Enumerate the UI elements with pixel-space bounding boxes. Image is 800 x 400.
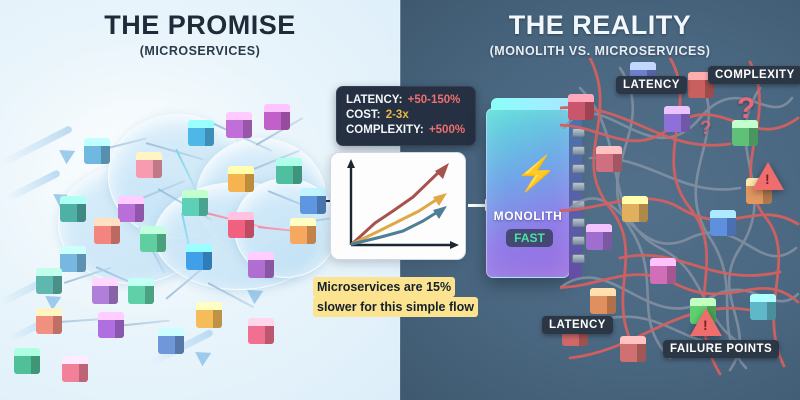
left-panel-subtitle: (MICROSERVICES): [0, 43, 400, 59]
service-cube: [264, 104, 290, 130]
question-mark-icon: ?: [737, 92, 755, 126]
service-cube: [98, 312, 124, 338]
stat-row-latency: LATENCY: +50-150%: [346, 93, 467, 108]
chart-series: [352, 163, 449, 244]
service-cube: [568, 94, 594, 120]
lightning-bolt-icon: ⚡: [515, 157, 557, 191]
left-panel-title: THE PROMISE: [0, 10, 400, 40]
service-cube: [158, 328, 184, 354]
question-mark-icon: ?: [700, 118, 712, 140]
service-cube: [276, 158, 302, 184]
infographic-canvas: THE PROMISE (MICROSERVICES): [0, 0, 800, 400]
service-cube: [140, 226, 166, 252]
service-cube: [710, 210, 736, 236]
monolith-label: MONOLITH: [487, 209, 569, 223]
service-cube: [188, 120, 214, 146]
monolith-fast-badge: FAST: [506, 229, 553, 247]
service-cube: [84, 138, 110, 164]
trend-chart-svg: [331, 153, 467, 261]
service-cube: [226, 112, 252, 138]
service-cube: [620, 336, 646, 362]
stat-value-complexity: +500%: [429, 124, 465, 136]
service-cube: [182, 190, 208, 216]
stat-value-latency: +50-150%: [408, 94, 461, 106]
service-cube: [300, 188, 326, 214]
service-cube: [650, 258, 676, 284]
label-latency-bottom: LATENCY: [542, 316, 613, 334]
monolith-block: ⚡ MONOLITH FAST: [486, 108, 570, 278]
service-cube: [622, 196, 648, 222]
stat-row-cost: COST: 2-3x: [346, 108, 467, 123]
stat-label-latency: LATENCY:: [346, 94, 402, 106]
service-cube: [128, 278, 154, 304]
service-cube: [586, 224, 612, 250]
label-latency-top: LATENCY: [616, 76, 687, 94]
service-cube: [118, 196, 144, 222]
trend-chart-card: [330, 152, 466, 260]
service-cube: [750, 294, 776, 320]
left-panel-title-group: THE PROMISE (MICROSERVICES): [0, 10, 400, 59]
stat-label-complexity: COMPLEXITY:: [346, 124, 424, 136]
service-cube: [62, 356, 88, 382]
chart-to-monolith-arrow: [468, 204, 486, 207]
service-cube: [290, 218, 316, 244]
service-cube: [60, 246, 86, 272]
right-panel-title: THE REALITY: [400, 10, 800, 40]
stat-label-cost: COST:: [346, 109, 381, 121]
service-cube: [36, 308, 62, 334]
service-cube: [248, 318, 274, 344]
service-cube: [228, 166, 254, 192]
service-cube: [36, 268, 62, 294]
stat-value-cost: 2-3x: [386, 109, 409, 121]
service-cube: [60, 196, 86, 222]
right-panel-subtitle: (MONOLITH VS. MICROSERVICES): [400, 43, 800, 59]
service-cube: [248, 252, 274, 278]
service-cube: [590, 288, 616, 314]
caption-line-2: slower for this simple flow: [316, 300, 475, 314]
right-panel-title-group: THE REALITY (MONOLITH VS. MICROSERVICES): [400, 10, 800, 59]
caption-line-1: Microservices are 15%: [316, 280, 452, 294]
service-cube: [92, 278, 118, 304]
service-cube: [136, 152, 162, 178]
service-cube: [596, 146, 622, 172]
stat-row-complexity: COMPLEXITY: +500%: [346, 123, 467, 138]
warning-triangle-icon: [752, 162, 784, 190]
service-cube: [664, 106, 690, 132]
metrics-callout: LATENCY: +50-150% COST: 2-3x COMPLEXITY:…: [336, 86, 476, 146]
service-cube: [186, 244, 212, 270]
label-failure-points: FAILURE POINTS: [663, 340, 779, 358]
service-cube: [196, 302, 222, 328]
warning-triangle-icon: [690, 308, 722, 336]
label-complexity: COMPLEXITY: [708, 66, 800, 84]
benchmark-caption: Microservices are 15% slower for this si…: [316, 278, 491, 316]
service-cube: [14, 348, 40, 374]
service-cube: [94, 218, 120, 244]
service-cube: [228, 212, 254, 238]
